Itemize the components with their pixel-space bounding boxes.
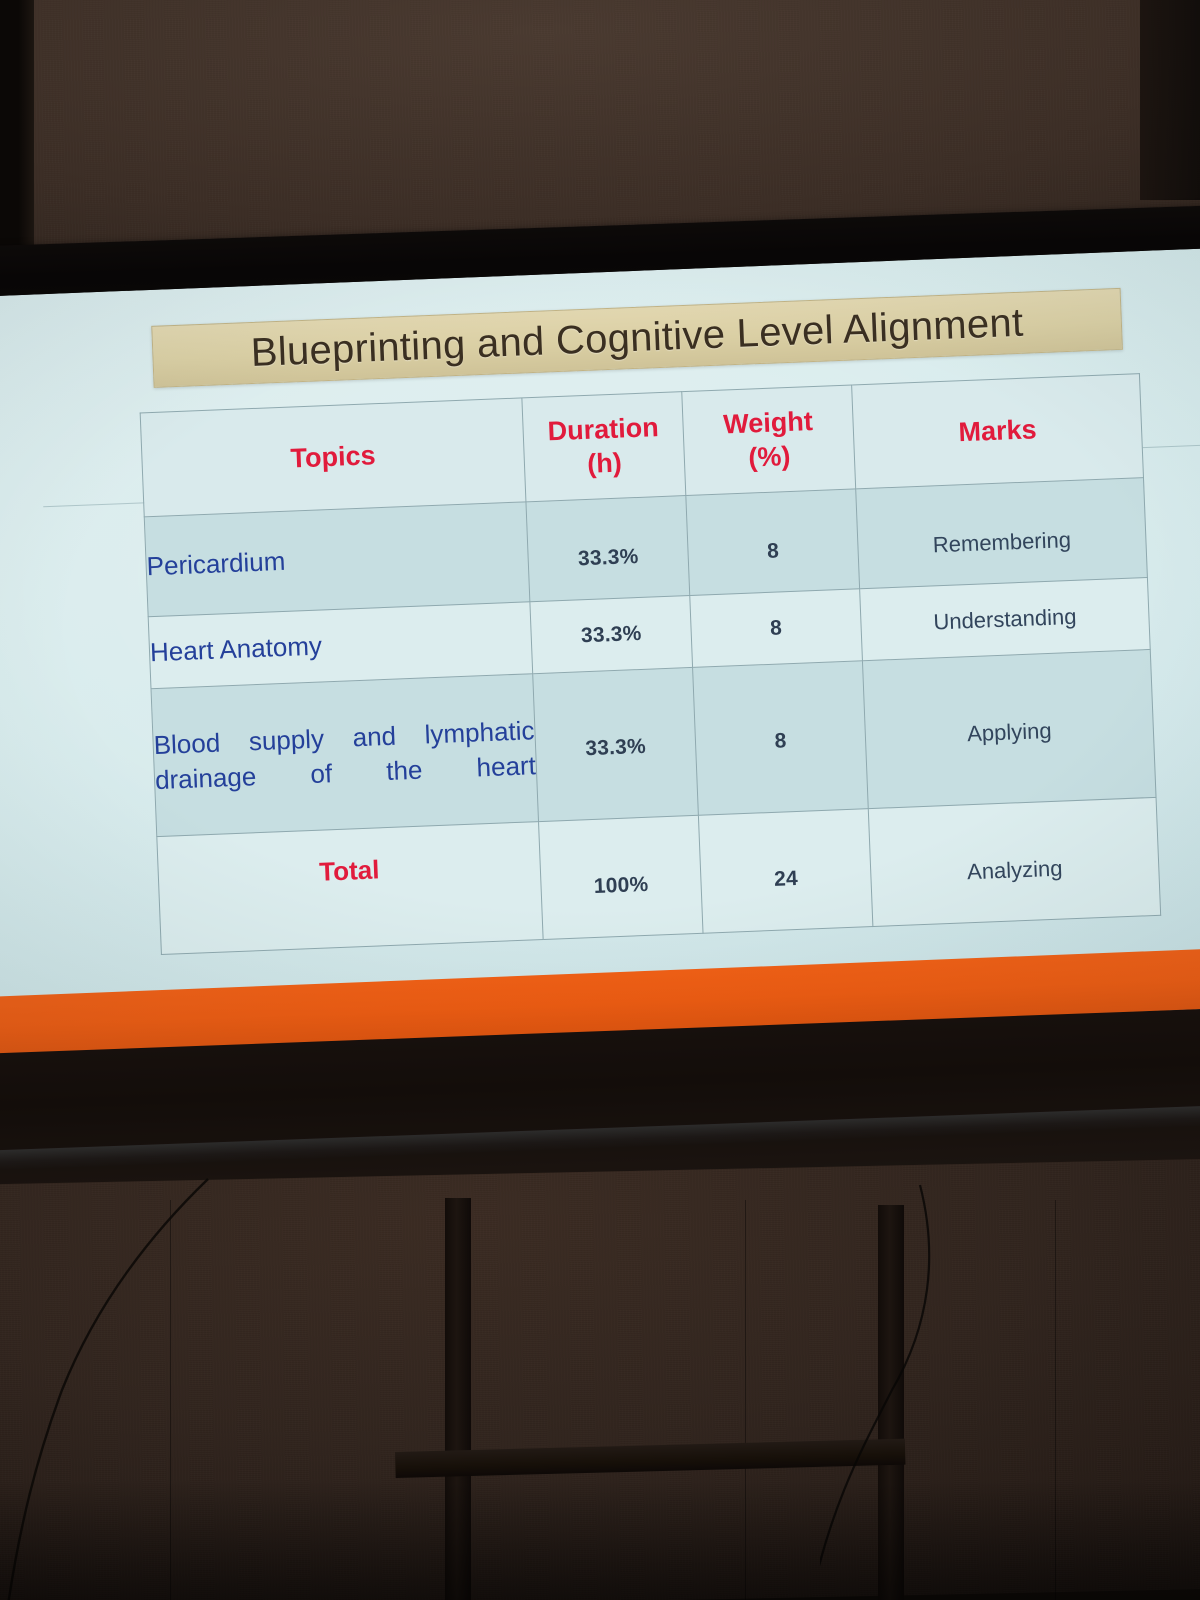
wall-right-shadow <box>1140 0 1200 200</box>
header-sub-duration: (h) <box>524 444 684 484</box>
cell-weight-total: 24 <box>698 809 873 934</box>
cell-duration: 33.3% <box>530 595 693 673</box>
header-label-duration: Duration <box>523 410 683 450</box>
photo-scene: Blueprinting and Cognitive Level Alignme… <box>0 0 1200 1600</box>
floor-shadow <box>0 1480 1200 1600</box>
display-screen[interactable]: Blueprinting and Cognitive Level Alignme… <box>0 247 1200 1057</box>
page-title: Blueprinting and Cognitive Level Alignme… <box>250 300 1024 375</box>
cell-topic: Blood supply and lymphatic drainage of t… <box>151 674 539 837</box>
cell-marks: Understanding <box>860 578 1151 661</box>
column-header-weight: Weight (%) <box>682 385 856 496</box>
header-label-topics: Topics <box>142 433 524 482</box>
cell-topic-total: Total <box>157 822 543 955</box>
cell-marks: Remembering <box>856 478 1148 589</box>
column-header-topics: Topics <box>140 398 526 517</box>
cell-weight: 8 <box>686 489 860 596</box>
header-label-marks: Marks <box>853 409 1141 454</box>
slide-guide-line-right <box>1142 443 1200 448</box>
column-header-marks: Marks <box>852 374 1144 489</box>
cell-marks: Applying <box>862 649 1156 808</box>
blueprint-table: Topics Duration (h) Weight (%) Marks <box>140 373 1162 955</box>
cell-marks-total: Analyzing <box>868 797 1160 926</box>
header-sub-weight: (%) <box>684 437 854 477</box>
presentation-slide: Blueprinting and Cognitive Level Alignme… <box>0 247 1200 1057</box>
cell-duration-total: 100% <box>539 815 704 939</box>
cell-topic: Pericardium <box>144 502 530 617</box>
column-header-duration: Duration (h) <box>522 392 686 502</box>
slide-title-banner: Blueprinting and Cognitive Level Alignme… <box>151 288 1123 388</box>
cell-weight: 8 <box>693 661 869 816</box>
cell-duration: 33.3% <box>533 667 699 821</box>
cell-weight: 8 <box>690 589 863 668</box>
cell-duration: 33.3% <box>526 496 690 602</box>
